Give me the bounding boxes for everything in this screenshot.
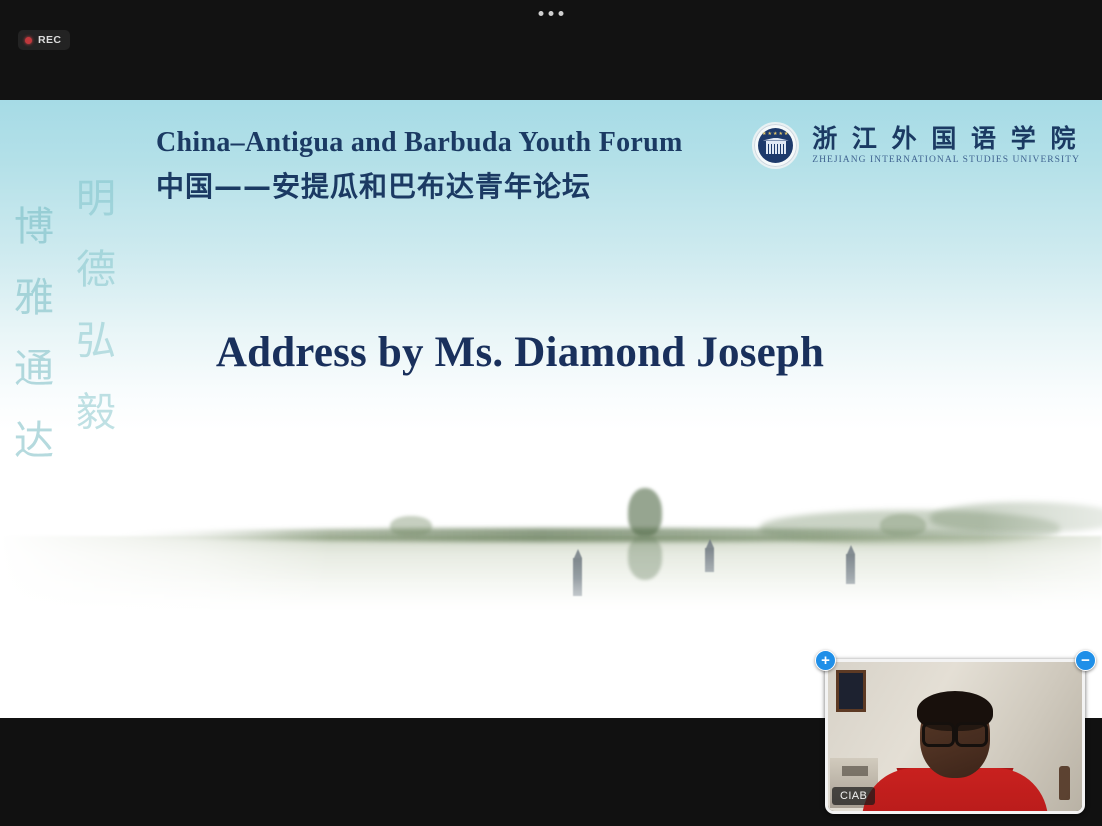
pagoda-icon [846, 554, 855, 584]
forum-title-english: China–Antigua and Barbuda Youth Forum [156, 127, 683, 159]
university-name-chinese: 浙 江 外 国 语 学 院 [812, 126, 1080, 151]
participant-video-tile[interactable]: ✦ CIAB [825, 659, 1085, 814]
university-seal-icon: ★★★★★ [752, 122, 799, 169]
pagoda-icon [573, 558, 582, 596]
slide-header: China–Antigua and Barbuda Youth Forum 中国… [156, 127, 683, 205]
calligraphy-char: 毅 [76, 378, 116, 449]
meeting-screen: REC 博 雅 通 达 [0, 0, 1102, 826]
calligraphy-char: 雅 [14, 263, 54, 334]
calligraphy-char: 博 [14, 192, 54, 263]
status-badge: REC [18, 30, 70, 50]
recording-label: REC [38, 34, 61, 46]
calligraphy-char: 达 [14, 406, 54, 477]
plus-circle-icon[interactable]: + [815, 650, 836, 671]
shared-slide[interactable]: 博 雅 通 达 明 德 弘 毅 China–Antigua and Barbud… [0, 100, 1102, 718]
page-title: Address by Ms. Diamond Joseph [0, 328, 1040, 377]
meeting-top-bar: REC [0, 0, 1102, 100]
minus-circle-icon[interactable]: − [1075, 650, 1096, 671]
participant-avatar: ✦ [860, 696, 1050, 814]
ink-wash-landscape [0, 458, 1102, 688]
more-options-icon[interactable] [533, 7, 570, 20]
calligraphy-char: 德 [76, 235, 116, 306]
university-logo: ★★★★★ 浙 江 外 国 语 学 院 ZHEJIANG INTERNATION… [752, 122, 1080, 169]
record-dot-icon [25, 37, 32, 44]
glasses-icon [922, 722, 988, 742]
calligraphy-char: 明 [76, 164, 116, 235]
forum-title-chinese: 中国——安提瓜和巴布达青年论坛 [156, 165, 683, 205]
participant-name-label: CIAB [832, 787, 875, 805]
university-name-english: ZHEJIANG INTERNATIONAL STUDIES UNIVERSIT… [812, 156, 1080, 166]
pagoda-icon [705, 548, 714, 572]
